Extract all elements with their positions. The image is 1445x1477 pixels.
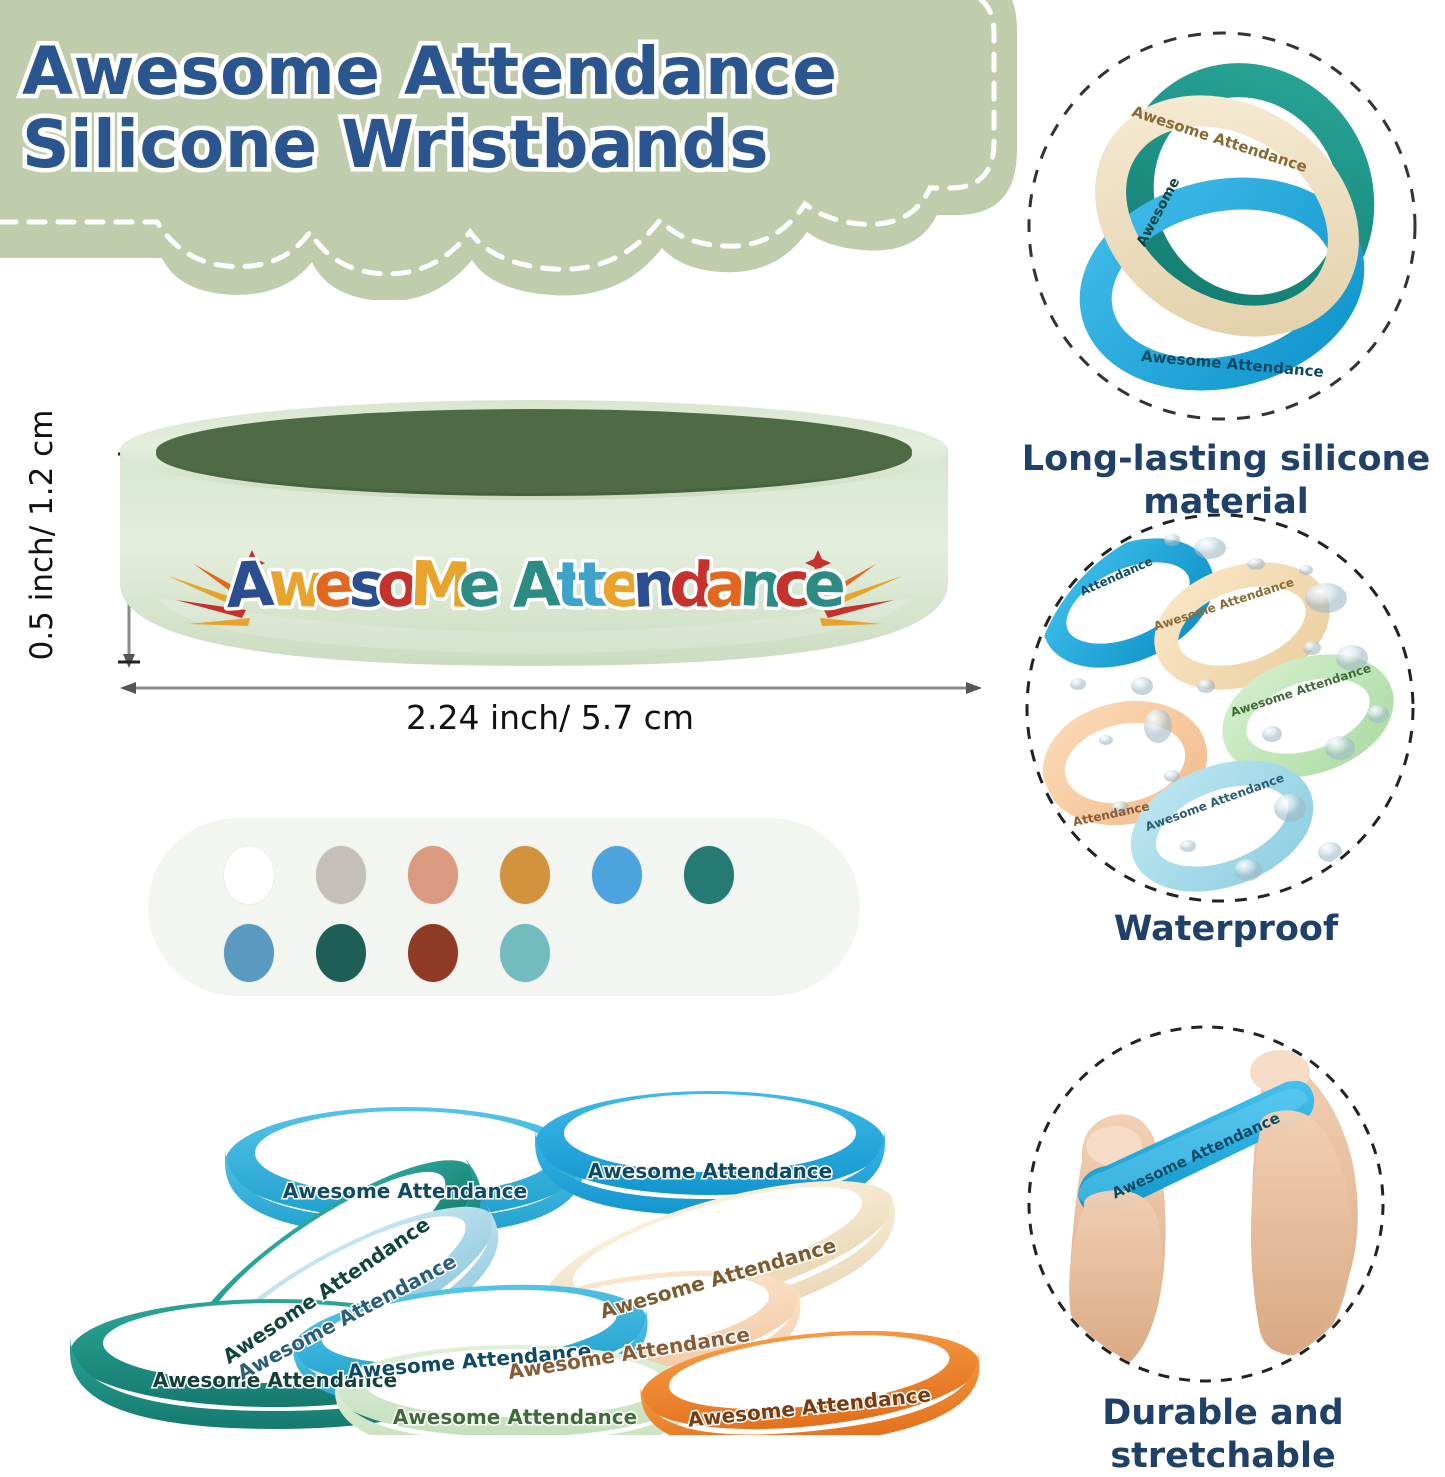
title-line-2: Silicone Wristbands [22,111,1002,178]
svg-text:Awesome Attendance: Awesome Attendance [588,1159,832,1183]
dimension-width-label: 2.24 inch/ 5.7 cm [120,698,980,737]
color-swatch-deep-teal[interactable] [684,846,734,904]
color-swatch-white[interactable] [224,846,274,904]
dimension-height-label: 0.5 inch/ 1.2 cm [24,115,60,395]
band-brand-artwork: AwesoMeAttendance [150,518,920,648]
brand-letter: A [511,547,562,622]
feature-durable-stretchable: Awesome Attendance Durable and stretchab… [1000,1020,1445,1435]
band-brand-text: AwesoMeAttendance [224,547,847,622]
color-swatch-steel-blue[interactable] [224,924,274,982]
swatch-row-top [224,846,734,904]
feature-waterproof: Attendance Awesome Attendance Awesome At… [1008,508,1444,978]
wristband-pile-photo: Awesome Attendance Awesome Attendance Aw… [20,1035,1000,1435]
svg-text:Awesome Attendance: Awesome Attendance [393,1405,637,1429]
color-swatch-sky-blue[interactable] [592,846,642,904]
dimension-width-arrow [120,678,982,698]
feature-durable-image: Awesome Attendance [1022,1020,1390,1388]
color-swatch-light-gray[interactable] [316,846,366,904]
page-title: Awesome Attendance Silicone Wristbands [22,38,1002,179]
color-swatch-dark-teal[interactable] [316,924,366,982]
color-swatch-dusty-rose[interactable] [408,846,458,904]
feature-long-lasting: Awesome Attendance Awesome Awesome Atten… [1008,20,1444,500]
feature-long-lasting-image: Awesome Attendance Awesome Awesome Atten… [1022,26,1422,426]
title-line-1: Awesome Attendance [22,38,1002,105]
feature-waterproof-image: Attendance Awesome Attendance Awesome At… [1020,508,1420,908]
color-swatch-golden-amber[interactable] [500,846,550,904]
feature-waterproof-label: Waterproof [1008,908,1444,951]
infographic-canvas: Awesome Attendance Silicone Wristbands 0… [0,0,1445,1435]
svg-text:Awesome Attendance: Awesome Attendance [283,1179,527,1203]
brand-letter: e [803,548,846,622]
title-banner: Awesome Attendance Silicone Wristbands [0,0,1042,300]
brand-letter: e [456,547,502,622]
color-swatch-light-aqua[interactable] [500,924,550,982]
color-swatch-panel [148,818,860,996]
color-swatch-brick-red[interactable] [408,924,458,982]
swatch-row-bottom [224,924,550,982]
